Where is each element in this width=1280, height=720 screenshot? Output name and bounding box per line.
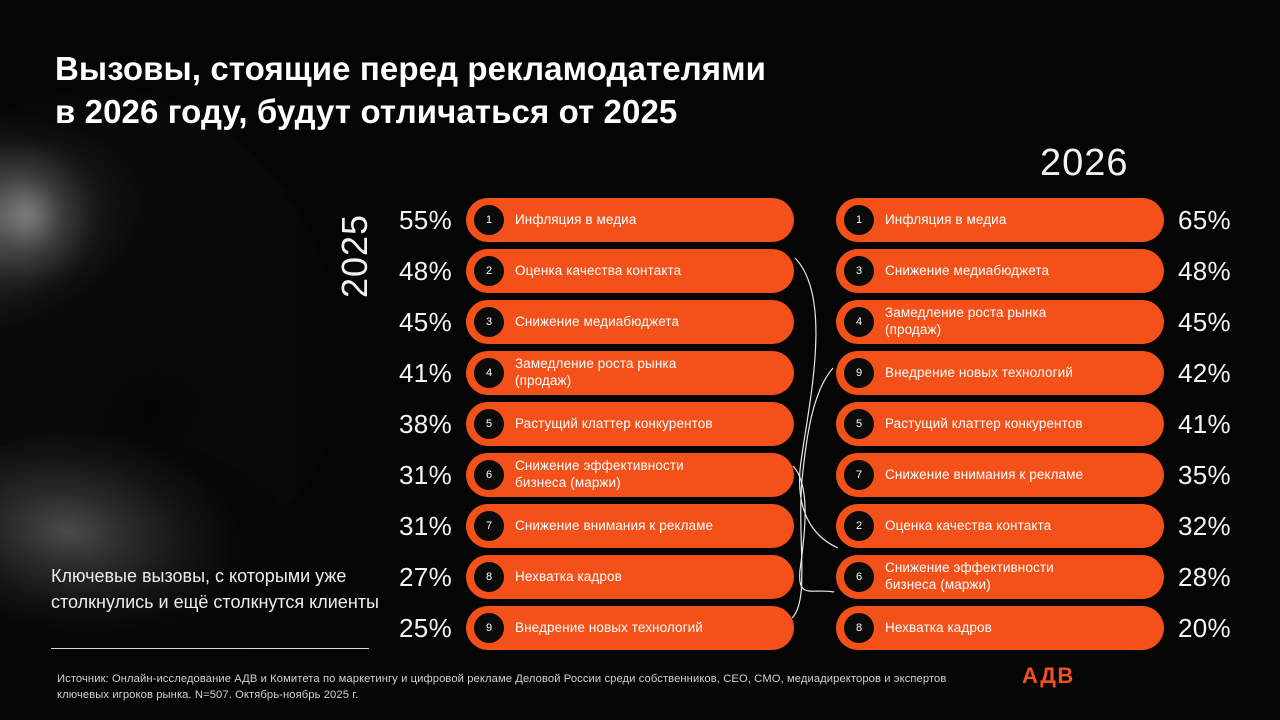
challenge-pill[interactable]: 5Растущий клаттер конкурентов [466,402,794,446]
rank-badge: 2 [844,511,874,541]
ranking-row: 6Снижение эффективности бизнеса (маржи)2… [836,555,1232,599]
rank-badge: 4 [474,358,504,388]
percent-value: 41% [1164,409,1232,440]
ranking-row: 7Снижение внимания к рекламе35% [836,453,1232,497]
challenge-pill[interactable]: 6Снижение эффективности бизнеса (маржи) [836,555,1164,599]
challenge-label: Снижение внимания к рекламе [515,518,725,535]
challenge-pill[interactable]: 1Инфляция в медиа [836,198,1164,242]
rank-badge: 6 [844,562,874,592]
ranking-row: 25%9Внедрение новых технологий [398,606,794,650]
ranking-row: 5Растущий клаттер конкурентов41% [836,402,1232,446]
percent-value: 45% [1164,307,1232,338]
challenge-label: Внедрение новых технологий [515,620,715,637]
ranking-row: 9Внедрение новых технологий42% [836,351,1232,395]
page-title-line-2: в 2026 году, будут отличаться от 2025 [55,91,1005,134]
page-title-line-1: Вызовы, стоящие перед рекламодателями [55,48,1005,91]
rank-badge: 5 [844,409,874,439]
ranking-row: 41%4Замедление роста рынка (продаж) [398,351,794,395]
percent-value: 20% [1164,613,1232,644]
challenge-label: Снижение внимания к рекламе [885,467,1095,484]
ranking-row: 3Снижение медиабюджета48% [836,249,1232,293]
challenge-pill[interactable]: 4Замедление роста рынка (продаж) [466,351,794,395]
ranking-row: 27%8Нехватка кадров [398,555,794,599]
challenge-pill[interactable]: 3Снижение медиабюджета [466,300,794,344]
year-label-2025: 2025 [295,228,415,284]
connector-curve-2 [792,368,833,618]
ranking-row: 55%1Инфляция в медиа [398,198,794,242]
ranking-row: 38%5Растущий клаттер конкурентов [398,402,794,446]
challenge-pill[interactable]: 7Снижение внимания к рекламе [836,453,1164,497]
caption-divider [51,648,369,649]
challenge-label: Растущий клаттер конкурентов [515,416,725,433]
rank-badge: 1 [474,205,504,235]
rank-badge: 7 [844,460,874,490]
challenge-label: Оценка качества контакта [515,263,693,280]
challenge-pill[interactable]: 9Внедрение новых технологий [466,606,794,650]
challenge-pill[interactable]: 8Нехватка кадров [836,606,1164,650]
ranking-row: 45%3Снижение медиабюджета [398,300,794,344]
challenge-pill[interactable]: 1Инфляция в медиа [466,198,794,242]
challenge-label: Инфляция в медиа [515,212,648,229]
percent-value: 35% [1164,460,1232,491]
challenge-label: Оценка качества контакта [885,518,1063,535]
percent-value: 65% [1164,205,1232,236]
challenge-pill[interactable]: 8Нехватка кадров [466,555,794,599]
percent-value: 31% [398,460,466,491]
year-label-2026: 2026 [1040,142,1129,185]
rank-badge: 8 [474,562,504,592]
challenge-label: Нехватка кадров [515,569,634,586]
adv-logo: АДВ [1022,663,1075,689]
key-challenges-caption: Ключевые вызовы, с которыми уже столкнул… [51,564,381,615]
ranking-row: 8Нехватка кадров20% [836,606,1232,650]
challenge-pill[interactable]: 7Снижение внимания к рекламе [466,504,794,548]
challenge-pill[interactable]: 9Внедрение новых технологий [836,351,1164,395]
ranking-row: 48%2Оценка качества контакта [398,249,794,293]
challenge-label: Растущий клаттер конкурентов [885,416,1095,433]
page-title: Вызовы, стоящие перед рекламодателями в … [55,48,1005,134]
challenge-label: Снижение медиабюджета [515,314,691,331]
percent-value: 42% [1164,358,1232,389]
percent-value: 28% [1164,562,1232,593]
challenge-pill[interactable]: 3Снижение медиабюджета [836,249,1164,293]
challenge-label: Снижение эффективности бизнеса (маржи) [885,560,1066,594]
challenge-label: Замедление роста рынка (продаж) [885,305,1058,339]
percent-value: 41% [398,358,466,389]
rank-badge: 8 [844,613,874,643]
source-note: Источник: Онлайн-исследование АДВ и Коми… [57,671,957,703]
challenge-pill[interactable]: 6Снижение эффективности бизнеса (маржи) [466,453,794,497]
ranking-row: 2Оценка качества контакта32% [836,504,1232,548]
percent-value: 25% [398,613,466,644]
challenge-pill[interactable]: 2Оценка качества контакта [466,249,794,293]
percent-value: 38% [398,409,466,440]
ranking-row: 31%7Снижение внимания к рекламе [398,504,794,548]
challenge-pill[interactable]: 2Оценка качества контакта [836,504,1164,548]
ranking-row: 4Замедление роста рынка (продаж)45% [836,300,1232,344]
challenge-label: Нехватка кадров [885,620,1004,637]
percent-value: 32% [1164,511,1232,542]
challenge-label: Инфляция в медиа [885,212,1018,229]
percent-value: 48% [1164,256,1232,287]
rank-badge: 6 [474,460,504,490]
rank-badge: 9 [474,613,504,643]
challenge-label: Внедрение новых технологий [885,365,1085,382]
challenge-label: Снижение медиабюджета [885,263,1061,280]
connector-curve-3 [793,466,834,592]
rank-badge: 1 [844,205,874,235]
percent-value: 31% [398,511,466,542]
rank-badge: 4 [844,307,874,337]
rank-badge: 5 [474,409,504,439]
challenge-label: Замедление роста рынка (продаж) [515,356,688,390]
percent-value: 45% [398,307,466,338]
challenge-pill[interactable]: 5Растущий клаттер конкурентов [836,402,1164,446]
rank-badge: 7 [474,511,504,541]
challenge-label: Снижение эффективности бизнеса (маржи) [515,458,696,492]
percent-value: 27% [398,562,466,593]
ranking-row: 31%6Снижение эффективности бизнеса (марж… [398,453,794,497]
ranking-row: 1Инфляция в медиа65% [836,198,1232,242]
ranking-column-2026: 1Инфляция в медиа65%3Снижение медиабюдже… [836,198,1232,657]
rank-badge: 3 [474,307,504,337]
connector-curve-1 [795,258,838,548]
rank-badge: 2 [474,256,504,286]
ranking-column-2025: 55%1Инфляция в медиа48%2Оценка качества … [398,198,794,657]
rank-badge: 3 [844,256,874,286]
slide-canvas: Вызовы, стоящие перед рекламодателями в … [0,0,1280,720]
challenge-pill[interactable]: 4Замедление роста рынка (продаж) [836,300,1164,344]
rank-badge: 9 [844,358,874,388]
